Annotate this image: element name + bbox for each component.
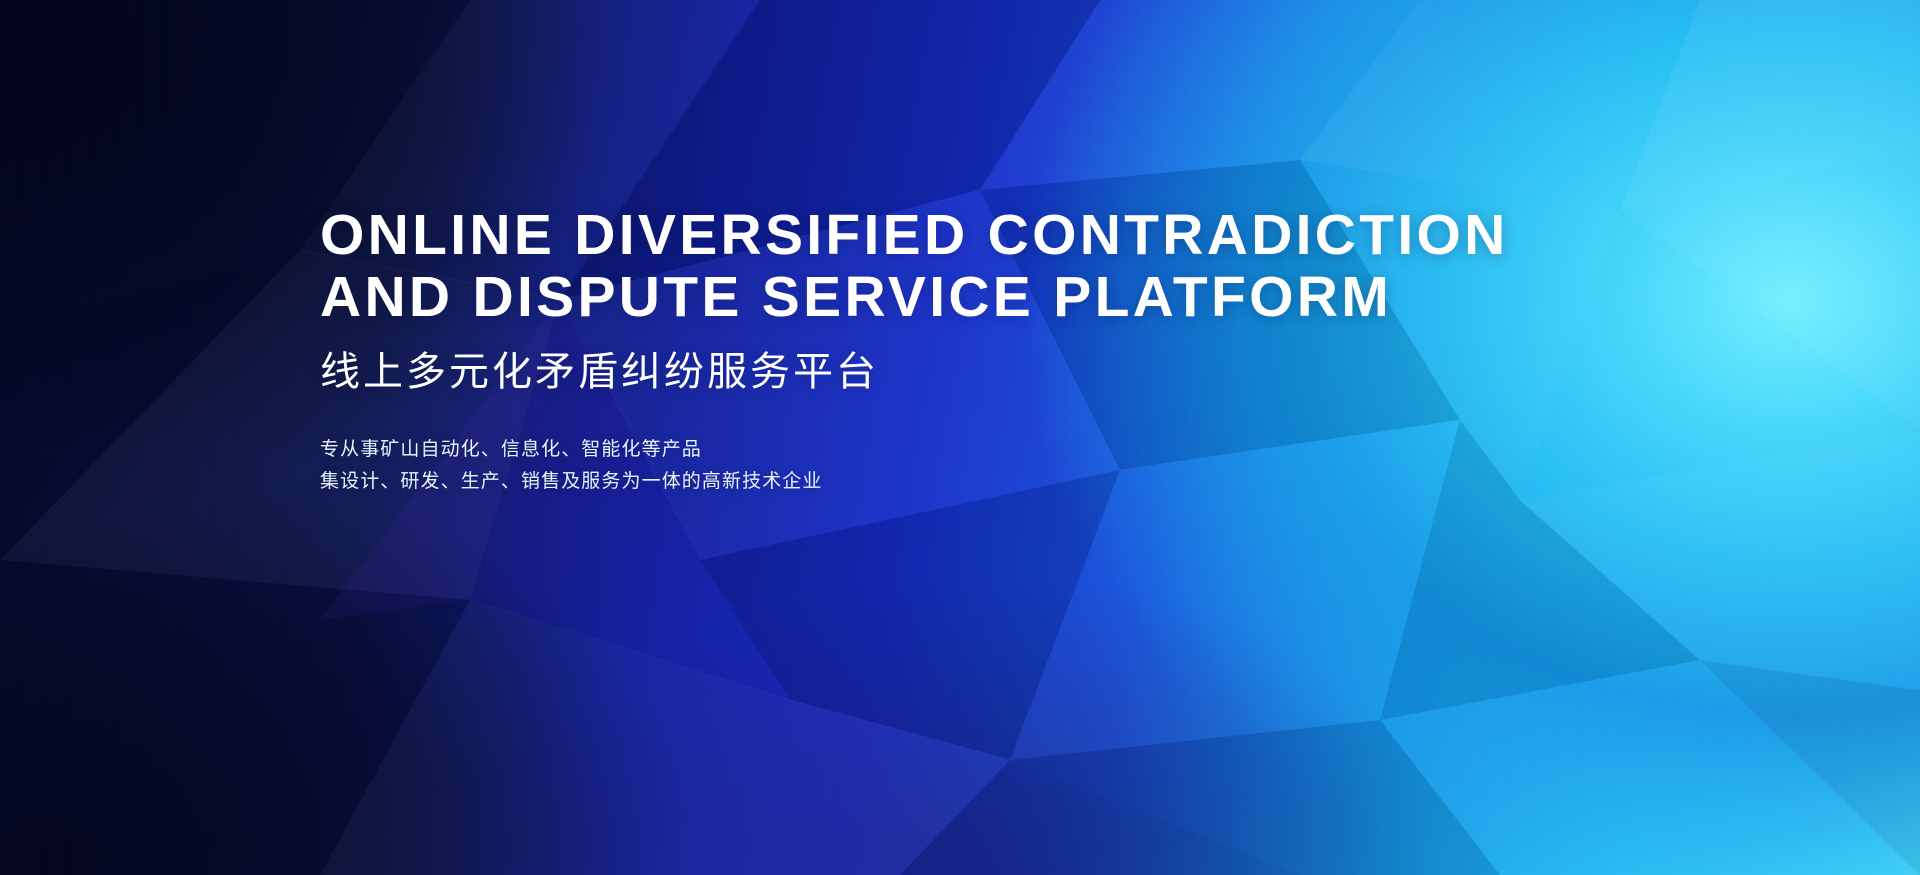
description-line-1: 专从事矿山自动化、信息化、智能化等产品 — [320, 434, 1660, 466]
page-subtitle: 线上多元化矛盾纠纷服务平台 — [320, 348, 1660, 396]
description-line-2: 集设计、研发、生产、销售及服务为一体的高新技术企业 — [320, 466, 1660, 498]
page-title: ONLINE DIVERSIFIED CONTRADICTION AND DIS… — [320, 204, 1660, 328]
hero-content: ONLINE DIVERSIFIED CONTRADICTION AND DIS… — [320, 204, 1660, 498]
description-list: 专从事矿山自动化、信息化、智能化等产品 集设计、研发、生产、销售及服务为一体的高… — [320, 434, 1660, 498]
hero-banner: ONLINE DIVERSIFIED CONTRADICTION AND DIS… — [0, 0, 1920, 875]
